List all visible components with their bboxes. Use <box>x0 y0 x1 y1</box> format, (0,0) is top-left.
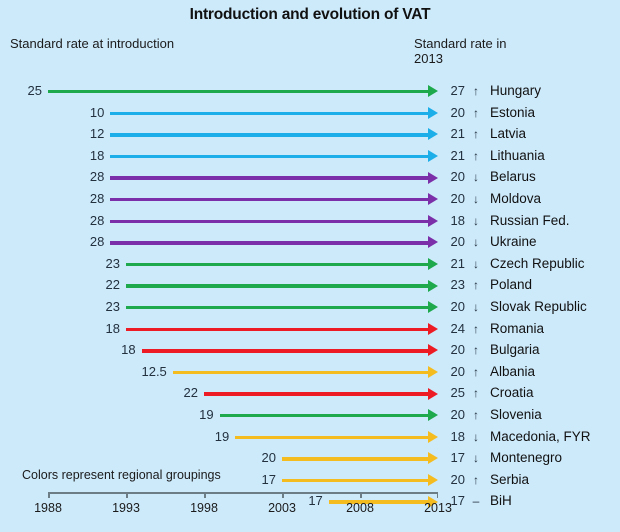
country-label: Slovak Republic <box>490 296 587 318</box>
country-label: Slovenia <box>490 404 542 426</box>
country-label: Croatia <box>490 382 534 404</box>
country-label: Estonia <box>490 102 535 124</box>
trend-arrow-icon: ↑ <box>470 274 482 296</box>
axis-tick-label: 2008 <box>330 501 390 515</box>
arrow-head-icon <box>428 344 438 356</box>
vat-chart: Introduction and evolution of VAT Standa… <box>0 0 620 532</box>
chart-row: 1920↑Slovenia <box>0 404 620 426</box>
trend-arrow-icon: ↓ <box>470 253 482 275</box>
arrow-line <box>110 198 430 201</box>
rate-at-introduction-value: 18 <box>80 318 120 340</box>
rate-2013-value: 20 <box>443 296 465 318</box>
rate-at-introduction-value: 19 <box>189 426 229 448</box>
country-label: Belarus <box>490 166 536 188</box>
rate-2013-value: 20 <box>443 188 465 210</box>
trend-arrow-icon: ↑ <box>470 318 482 340</box>
arrow-line <box>282 457 430 460</box>
trend-arrow-icon: ↓ <box>470 188 482 210</box>
rate-at-introduction-value: 12 <box>64 123 104 145</box>
rate-at-introduction-value: 10 <box>64 102 104 124</box>
arrow-head-icon <box>428 172 438 184</box>
trend-arrow-icon: ↑ <box>470 339 482 361</box>
evolution-arrow <box>110 231 438 253</box>
rate-at-introduction-value: 28 <box>64 210 104 232</box>
rate-at-introduction-value: 28 <box>64 188 104 210</box>
evolution-arrow <box>282 469 438 491</box>
footnote-legend: Colors represent regional groupings <box>22 468 221 482</box>
country-label: Romania <box>490 318 544 340</box>
rate-2013-value: 23 <box>443 274 465 296</box>
country-label: Ukraine <box>490 231 537 253</box>
rate-2013-value: 20 <box>443 166 465 188</box>
rate-2013-value: 27 <box>443 80 465 102</box>
arrow-head-icon <box>428 366 438 378</box>
country-label: Lithuania <box>490 145 545 167</box>
trend-arrow-icon: ↑ <box>470 123 482 145</box>
rate-at-introduction-value: 18 <box>96 339 136 361</box>
chart-row: 1020↑Estonia <box>0 102 620 124</box>
rate-2013-value: 20 <box>443 469 465 491</box>
chart-row: 2820↓Belarus <box>0 166 620 188</box>
trend-arrow-icon: ↑ <box>470 80 482 102</box>
chart-row: 1821↑Lithuania <box>0 145 620 167</box>
chart-row: 2818↓Russian Fed. <box>0 210 620 232</box>
rate-at-introduction-value: 23 <box>80 296 120 318</box>
trend-arrow-icon: ↑ <box>470 145 482 167</box>
arrow-head-icon <box>428 409 438 421</box>
trend-arrow-icon: ↓ <box>470 447 482 469</box>
trend-arrow-icon: ↓ <box>470 426 482 448</box>
trend-arrow-icon: ↑ <box>470 469 482 491</box>
arrow-head-icon <box>428 150 438 162</box>
country-label: Czech Republic <box>490 253 585 275</box>
arrow-line <box>126 263 430 266</box>
axis-tick <box>126 492 128 498</box>
arrow-line <box>110 176 430 179</box>
rate-2013-value: 18 <box>443 210 465 232</box>
chart-row: 2320↓Slovak Republic <box>0 296 620 318</box>
arrow-head-icon <box>428 431 438 443</box>
trend-arrow-icon: ↑ <box>470 382 482 404</box>
arrow-line <box>110 220 430 223</box>
arrow-line <box>204 392 430 395</box>
arrow-head-icon <box>428 388 438 400</box>
rate-at-introduction-value: 23 <box>80 253 120 275</box>
rate-at-introduction-value: 28 <box>64 231 104 253</box>
evolution-arrow <box>126 253 438 275</box>
axis-line <box>48 492 438 494</box>
evolution-arrow <box>126 296 438 318</box>
arrow-head-icon <box>428 258 438 270</box>
arrow-head-icon <box>428 236 438 248</box>
rate-at-introduction-value: 22 <box>80 274 120 296</box>
axis-tick-label: 1998 <box>174 501 234 515</box>
trend-arrow-icon: ↓ <box>470 210 482 232</box>
country-label: Montenegro <box>490 447 562 469</box>
trend-arrow-icon: ↑ <box>470 361 482 383</box>
axis-tick-label: 1988 <box>18 501 78 515</box>
evolution-arrow <box>110 188 438 210</box>
rate-at-introduction-value: 28 <box>64 166 104 188</box>
rate-2013-value: 20 <box>443 361 465 383</box>
chart-row: 2017↓Montenegro <box>0 447 620 469</box>
chart-row: 1820↑Bulgaria <box>0 339 620 361</box>
axis-tick <box>204 492 206 498</box>
chart-row: 2527↑Hungary <box>0 80 620 102</box>
country-label: Russian Fed. <box>490 210 570 232</box>
rate-2013-value: 24 <box>443 318 465 340</box>
rate-at-introduction-value: 22 <box>158 382 198 404</box>
evolution-arrow <box>110 210 438 232</box>
rate-2013-value: 20 <box>443 339 465 361</box>
evolution-arrow <box>235 426 438 448</box>
evolution-arrow <box>173 361 438 383</box>
rate-at-introduction-value: 17 <box>236 469 276 491</box>
axis-tick <box>360 492 362 498</box>
x-axis: 198819931998200320082013 <box>0 492 620 528</box>
rate-2013-value: 21 <box>443 253 465 275</box>
arrow-head-icon <box>428 474 438 486</box>
trend-arrow-icon: ↓ <box>470 231 482 253</box>
arrow-head-icon <box>428 193 438 205</box>
evolution-arrow <box>110 166 438 188</box>
rate-2013-value: 20 <box>443 404 465 426</box>
axis-tick <box>437 492 439 498</box>
arrow-rows-plot: 2527↑Hungary1020↑Estonia1221↑Latvia1821↑… <box>0 0 620 532</box>
rate-at-introduction-value: 19 <box>174 404 214 426</box>
arrow-line <box>142 349 430 352</box>
chart-row: 2223↑Poland <box>0 274 620 296</box>
arrow-head-icon <box>428 452 438 464</box>
evolution-arrow <box>142 339 438 361</box>
arrow-line <box>110 133 430 136</box>
evolution-arrow <box>110 145 438 167</box>
chart-row: 2820↓Moldova <box>0 188 620 210</box>
arrow-head-icon <box>428 323 438 335</box>
chart-row: 2820↓Ukraine <box>0 231 620 253</box>
arrow-head-icon <box>428 215 438 227</box>
trend-arrow-icon: ↓ <box>470 296 482 318</box>
country-label: Bulgaria <box>490 339 540 361</box>
arrow-line <box>110 241 430 244</box>
country-label: Latvia <box>490 123 526 145</box>
country-label: Moldova <box>490 188 541 210</box>
country-label: Poland <box>490 274 532 296</box>
trend-arrow-icon: ↓ <box>470 166 482 188</box>
arrow-line <box>220 414 430 417</box>
arrow-line <box>126 328 430 331</box>
chart-row: 2225↑Croatia <box>0 382 620 404</box>
rate-at-introduction-value: 12.5 <box>127 361 167 383</box>
evolution-arrow <box>220 404 438 426</box>
arrow-line <box>126 306 430 309</box>
arrow-head-icon <box>428 280 438 292</box>
evolution-arrow <box>126 318 438 340</box>
rate-2013-value: 21 <box>443 123 465 145</box>
rate-2013-value: 17 <box>443 447 465 469</box>
rate-2013-value: 20 <box>443 102 465 124</box>
arrow-line <box>48 90 430 93</box>
trend-arrow-icon: ↑ <box>470 102 482 124</box>
evolution-arrow <box>48 80 438 102</box>
evolution-arrow <box>110 102 438 124</box>
evolution-arrow <box>204 382 438 404</box>
rate-at-introduction-value: 18 <box>64 145 104 167</box>
arrow-line <box>282 479 430 482</box>
arrow-line <box>126 284 430 287</box>
axis-tick <box>282 492 284 498</box>
arrow-line <box>110 112 430 115</box>
rate-2013-value: 21 <box>443 145 465 167</box>
rate-at-introduction-value: 20 <box>236 447 276 469</box>
chart-row: 2321↓Czech Republic <box>0 253 620 275</box>
arrow-head-icon <box>428 107 438 119</box>
arrow-head-icon <box>428 85 438 97</box>
arrow-line <box>110 155 430 158</box>
evolution-arrow <box>126 274 438 296</box>
axis-tick <box>48 492 50 498</box>
rate-at-introduction-value: 25 <box>2 80 42 102</box>
country-label: Albania <box>490 361 535 383</box>
chart-row: 1824↑Romania <box>0 318 620 340</box>
chart-row: 1918↓Macedonia, FYR <box>0 426 620 448</box>
rate-2013-value: 25 <box>443 382 465 404</box>
arrow-head-icon <box>428 128 438 140</box>
trend-arrow-icon: ↑ <box>470 404 482 426</box>
chart-row: 1221↑Latvia <box>0 123 620 145</box>
arrow-head-icon <box>428 301 438 313</box>
rate-2013-value: 20 <box>443 231 465 253</box>
country-label: Serbia <box>490 469 529 491</box>
rate-2013-value: 18 <box>443 426 465 448</box>
chart-row: 12.520↑Albania <box>0 361 620 383</box>
arrow-line <box>235 436 430 439</box>
country-label: Hungary <box>490 80 541 102</box>
axis-tick-label: 2013 <box>408 501 468 515</box>
axis-tick-label: 2003 <box>252 501 312 515</box>
country-label: Macedonia, FYR <box>490 426 591 448</box>
evolution-arrow <box>282 447 438 469</box>
arrow-line <box>173 371 430 374</box>
axis-tick-label: 1993 <box>96 501 156 515</box>
evolution-arrow <box>110 123 438 145</box>
